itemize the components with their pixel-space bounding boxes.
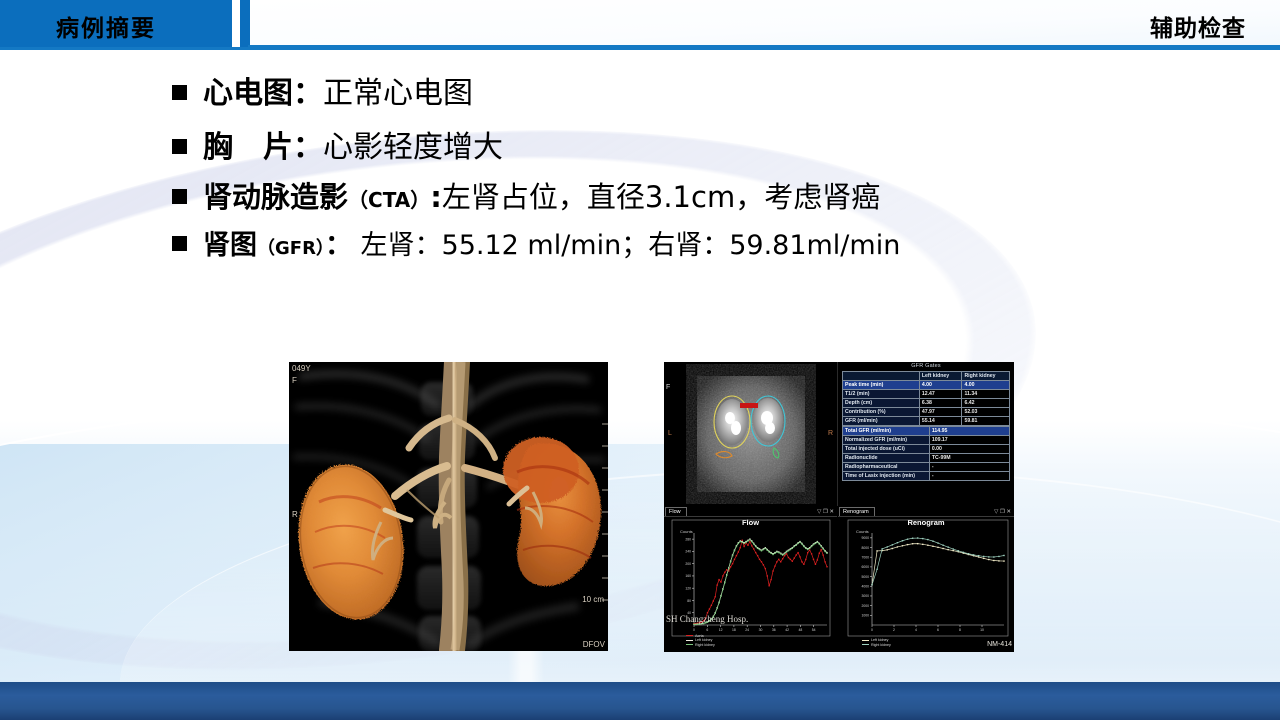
summary-row-name: Normalized GFR (ml/min) xyxy=(843,436,930,445)
svg-text:280: 280 xyxy=(685,537,691,541)
gfr-row-name: Depth (cm) xyxy=(843,399,920,408)
gfr-table-title: GFR Gates xyxy=(838,363,1014,369)
svg-text:24: 24 xyxy=(745,628,749,632)
svg-text:3000: 3000 xyxy=(861,594,869,598)
table-row: Total injected dose (uCi)0.00 xyxy=(843,445,1010,454)
gfr-summary-table: Total GFR (ml/min)114.95Normalized GFR (… xyxy=(842,426,1010,481)
renal-scintigraphy-workstation: F L R GFR Gates Left kidneyRight kidneyP… xyxy=(664,362,1014,652)
gfr-row-name: Contribution (%) xyxy=(843,408,920,417)
summary-row-value: 114.95 xyxy=(929,427,1009,436)
svg-text:240: 240 xyxy=(685,550,691,554)
scintigraphy-scan-pane: F L R xyxy=(664,362,838,506)
gfr-row-name: GFR (ml/min) xyxy=(843,417,920,426)
table-row: Time of Lasix injection (min)- xyxy=(843,472,1010,481)
svg-text:48: 48 xyxy=(799,628,803,632)
svg-text:120: 120 xyxy=(685,587,691,591)
bullet-paren-gfr: （GFR） xyxy=(257,238,325,259)
svg-text:12: 12 xyxy=(719,628,723,632)
summary-row-name: Radiopharmaceutical xyxy=(843,463,930,472)
svg-text:4000: 4000 xyxy=(861,585,869,589)
svg-text:54: 54 xyxy=(812,628,816,632)
header-accent-tick xyxy=(240,0,250,47)
bullet-label-ecg: 心电图 xyxy=(203,76,293,111)
svg-text:80: 80 xyxy=(687,599,691,603)
header-background-wash xyxy=(250,0,1280,45)
svg-text:7000: 7000 xyxy=(861,556,869,560)
gfr-left-value: 12.47 xyxy=(919,390,962,399)
gfr-col-header: Right kidney xyxy=(962,372,1010,381)
summary-row-value: 0.00 xyxy=(929,445,1009,454)
svg-text:30: 30 xyxy=(759,628,763,632)
svg-text:8: 8 xyxy=(959,628,961,632)
bullet-square-icon xyxy=(172,189,187,204)
gfr-col-header: Left kidney xyxy=(919,372,962,381)
gfr-col-header xyxy=(843,372,920,381)
page-title: 病例摘要 xyxy=(56,9,156,43)
bullet-item-ecg: 心电图：正常心电图 xyxy=(172,68,473,112)
flow-chart-window: Flow ▽ ❐ ✕ Flow Counts 40801201602002402… xyxy=(664,507,837,652)
header-baseline xyxy=(0,47,1280,50)
summary-row-value: - xyxy=(929,472,1009,481)
renogram-study-code: NM-414 xyxy=(987,641,1012,648)
table-row: T1/2 (min)12.4711.34 xyxy=(843,390,1010,399)
bullet-value-chest-xray: 心影轻度增大 xyxy=(323,130,503,165)
cta-sex-label: F xyxy=(292,376,297,385)
bullet-item-renogram: 肾图（GFR）： 左肾：55.12 ml/min；右肾：59.81ml/min xyxy=(172,223,900,262)
gfr-right-value: 52.03 xyxy=(962,408,1010,417)
svg-text:0: 0 xyxy=(693,628,695,632)
svg-text:36: 36 xyxy=(772,628,776,632)
gfr-left-value: 6.38 xyxy=(919,399,962,408)
table-row: GFR (ml/min)55.1459.81 xyxy=(843,417,1010,426)
bullet-separator-ecg: ： xyxy=(293,76,323,111)
flow-watermark: SH Changzheng Hosp. xyxy=(666,614,748,624)
bullet-item-chest-xray: 胸 片：心影轻度增大 xyxy=(172,122,503,166)
bullet-square-icon xyxy=(172,85,187,100)
legend-item: Right kidney xyxy=(862,643,891,647)
svg-text:2000: 2000 xyxy=(861,604,869,608)
gfr-right-value: 11.34 xyxy=(962,390,1010,399)
table-row: Contribution (%)47.9752.03 xyxy=(843,408,1010,417)
svg-text:42: 42 xyxy=(785,628,789,632)
svg-text:5000: 5000 xyxy=(861,575,869,579)
summary-row-name: Time of Lasix injection (min) xyxy=(843,472,930,481)
slide-header: 病例摘要 辅助检查 xyxy=(0,0,1280,50)
table-row: Peak time (min)4.004.00 xyxy=(843,381,1010,390)
renogram-chart-window: Renogram ▽ ❐ ✕ Renogram Counts 100020003… xyxy=(838,507,1014,652)
summary-row-value: - xyxy=(929,463,1009,472)
gfr-tables-pane: GFR Gates Left kidneyRight kidneyPeak ti… xyxy=(838,362,1014,506)
bullet-label-renal-angiography: 肾动脉造影 xyxy=(203,180,348,214)
legend-item: Left kidney xyxy=(686,638,715,642)
renogram-legend: Left kidneyRight kidney xyxy=(862,638,891,647)
scan-marker-foot: F xyxy=(666,384,670,391)
summary-row-name: Radionuclide xyxy=(843,454,930,463)
footer-bar xyxy=(0,682,1280,720)
gfr-right-value: 6.42 xyxy=(962,399,1010,408)
table-row: Depth (cm)6.386.42 xyxy=(843,399,1010,408)
background-swoosh-line xyxy=(0,389,1280,692)
summary-row-value: 109.17 xyxy=(929,436,1009,445)
legend-item: Left kidney xyxy=(862,638,891,642)
summary-row-name: Total GFR (ml/min) xyxy=(843,427,930,436)
svg-text:18: 18 xyxy=(732,628,736,632)
gfr-left-value: 55.14 xyxy=(919,417,962,426)
svg-text:200: 200 xyxy=(685,562,691,566)
svg-text:6000: 6000 xyxy=(861,565,869,569)
bullet-paren-cta: （CTA） xyxy=(348,188,430,212)
section-title: 辅助检查 xyxy=(1150,9,1246,43)
cta-marker-right: R xyxy=(292,510,298,519)
flow-legend: AortaLeft kidneyRight kidney xyxy=(686,634,715,647)
bullet-label-chest-xray: 胸 片 xyxy=(203,130,293,165)
scan-marker-left: L xyxy=(668,430,672,437)
cta-scale-label: 10 cm xyxy=(582,595,604,604)
svg-text:2: 2 xyxy=(893,628,895,632)
svg-text:160: 160 xyxy=(685,574,691,578)
scintigraphy-image xyxy=(664,362,837,506)
gfr-left-value: 47.97 xyxy=(919,408,962,417)
bullet-square-icon xyxy=(172,236,187,251)
bullet-separator-renogram: ： xyxy=(325,230,352,261)
table-row: Radiopharmaceutical- xyxy=(843,463,1010,472)
bullet-value-renal-angiography: 左肾占位，直径3.1cm，考虑肾癌 xyxy=(442,180,880,214)
flow-chart-plot: 4080120160200240280061218243036424854 xyxy=(664,507,837,652)
svg-text:9000: 9000 xyxy=(861,536,869,540)
cta-angiography-image: 049Y F R 10 cm DFOV xyxy=(289,362,608,651)
gfr-row-name: T1/2 (min) xyxy=(843,390,920,399)
bullet-separator-chest-xray: ： xyxy=(293,130,323,165)
svg-text:1000: 1000 xyxy=(861,614,869,618)
gfr-gates-table: Left kidneyRight kidneyPeak time (min)4.… xyxy=(842,371,1010,426)
bullet-label-renogram: 肾图 xyxy=(203,230,257,261)
gfr-right-value: 4.00 xyxy=(962,381,1010,390)
svg-text:10: 10 xyxy=(980,628,984,632)
gfr-left-value: 4.00 xyxy=(919,381,962,390)
table-row: Total GFR (ml/min)114.95 xyxy=(843,427,1010,436)
svg-text:6: 6 xyxy=(706,628,708,632)
legend-item: Right kidney xyxy=(686,643,715,647)
summary-row-name: Total injected dose (uCi) xyxy=(843,445,930,454)
bullet-square-icon xyxy=(172,139,187,154)
table-row: RadionuclideTC-99M xyxy=(843,454,1010,463)
bullet-item-renal-angiography: 肾动脉造影（CTA）:左肾占位，直径3.1cm，考虑肾癌 xyxy=(172,174,880,216)
bullet-value-renogram: 左肾：55.12 ml/min；右肾：59.81ml/min xyxy=(352,230,900,261)
svg-text:8000: 8000 xyxy=(861,546,869,550)
svg-text:4: 4 xyxy=(915,628,917,632)
bullet-separator-renal-angiography: : xyxy=(430,180,442,214)
svg-text:0: 0 xyxy=(871,628,873,632)
svg-text:6: 6 xyxy=(937,628,939,632)
scan-marker-right: R xyxy=(828,430,833,437)
cta-age-label: 049Y xyxy=(292,364,311,373)
cta-render xyxy=(289,362,608,651)
bullet-value-ecg: 正常心电图 xyxy=(323,76,473,111)
table-row: Normalized GFR (ml/min)109.17 xyxy=(843,436,1010,445)
cta-fov-label: DFOV xyxy=(583,640,605,649)
gfr-right-value: 59.81 xyxy=(962,417,1010,426)
renogram-chart-plot: 1000200030004000500060007000800090000246… xyxy=(838,507,1014,652)
summary-row-value: TC-99M xyxy=(929,454,1009,463)
gfr-row-name: Peak time (min) xyxy=(843,381,920,390)
